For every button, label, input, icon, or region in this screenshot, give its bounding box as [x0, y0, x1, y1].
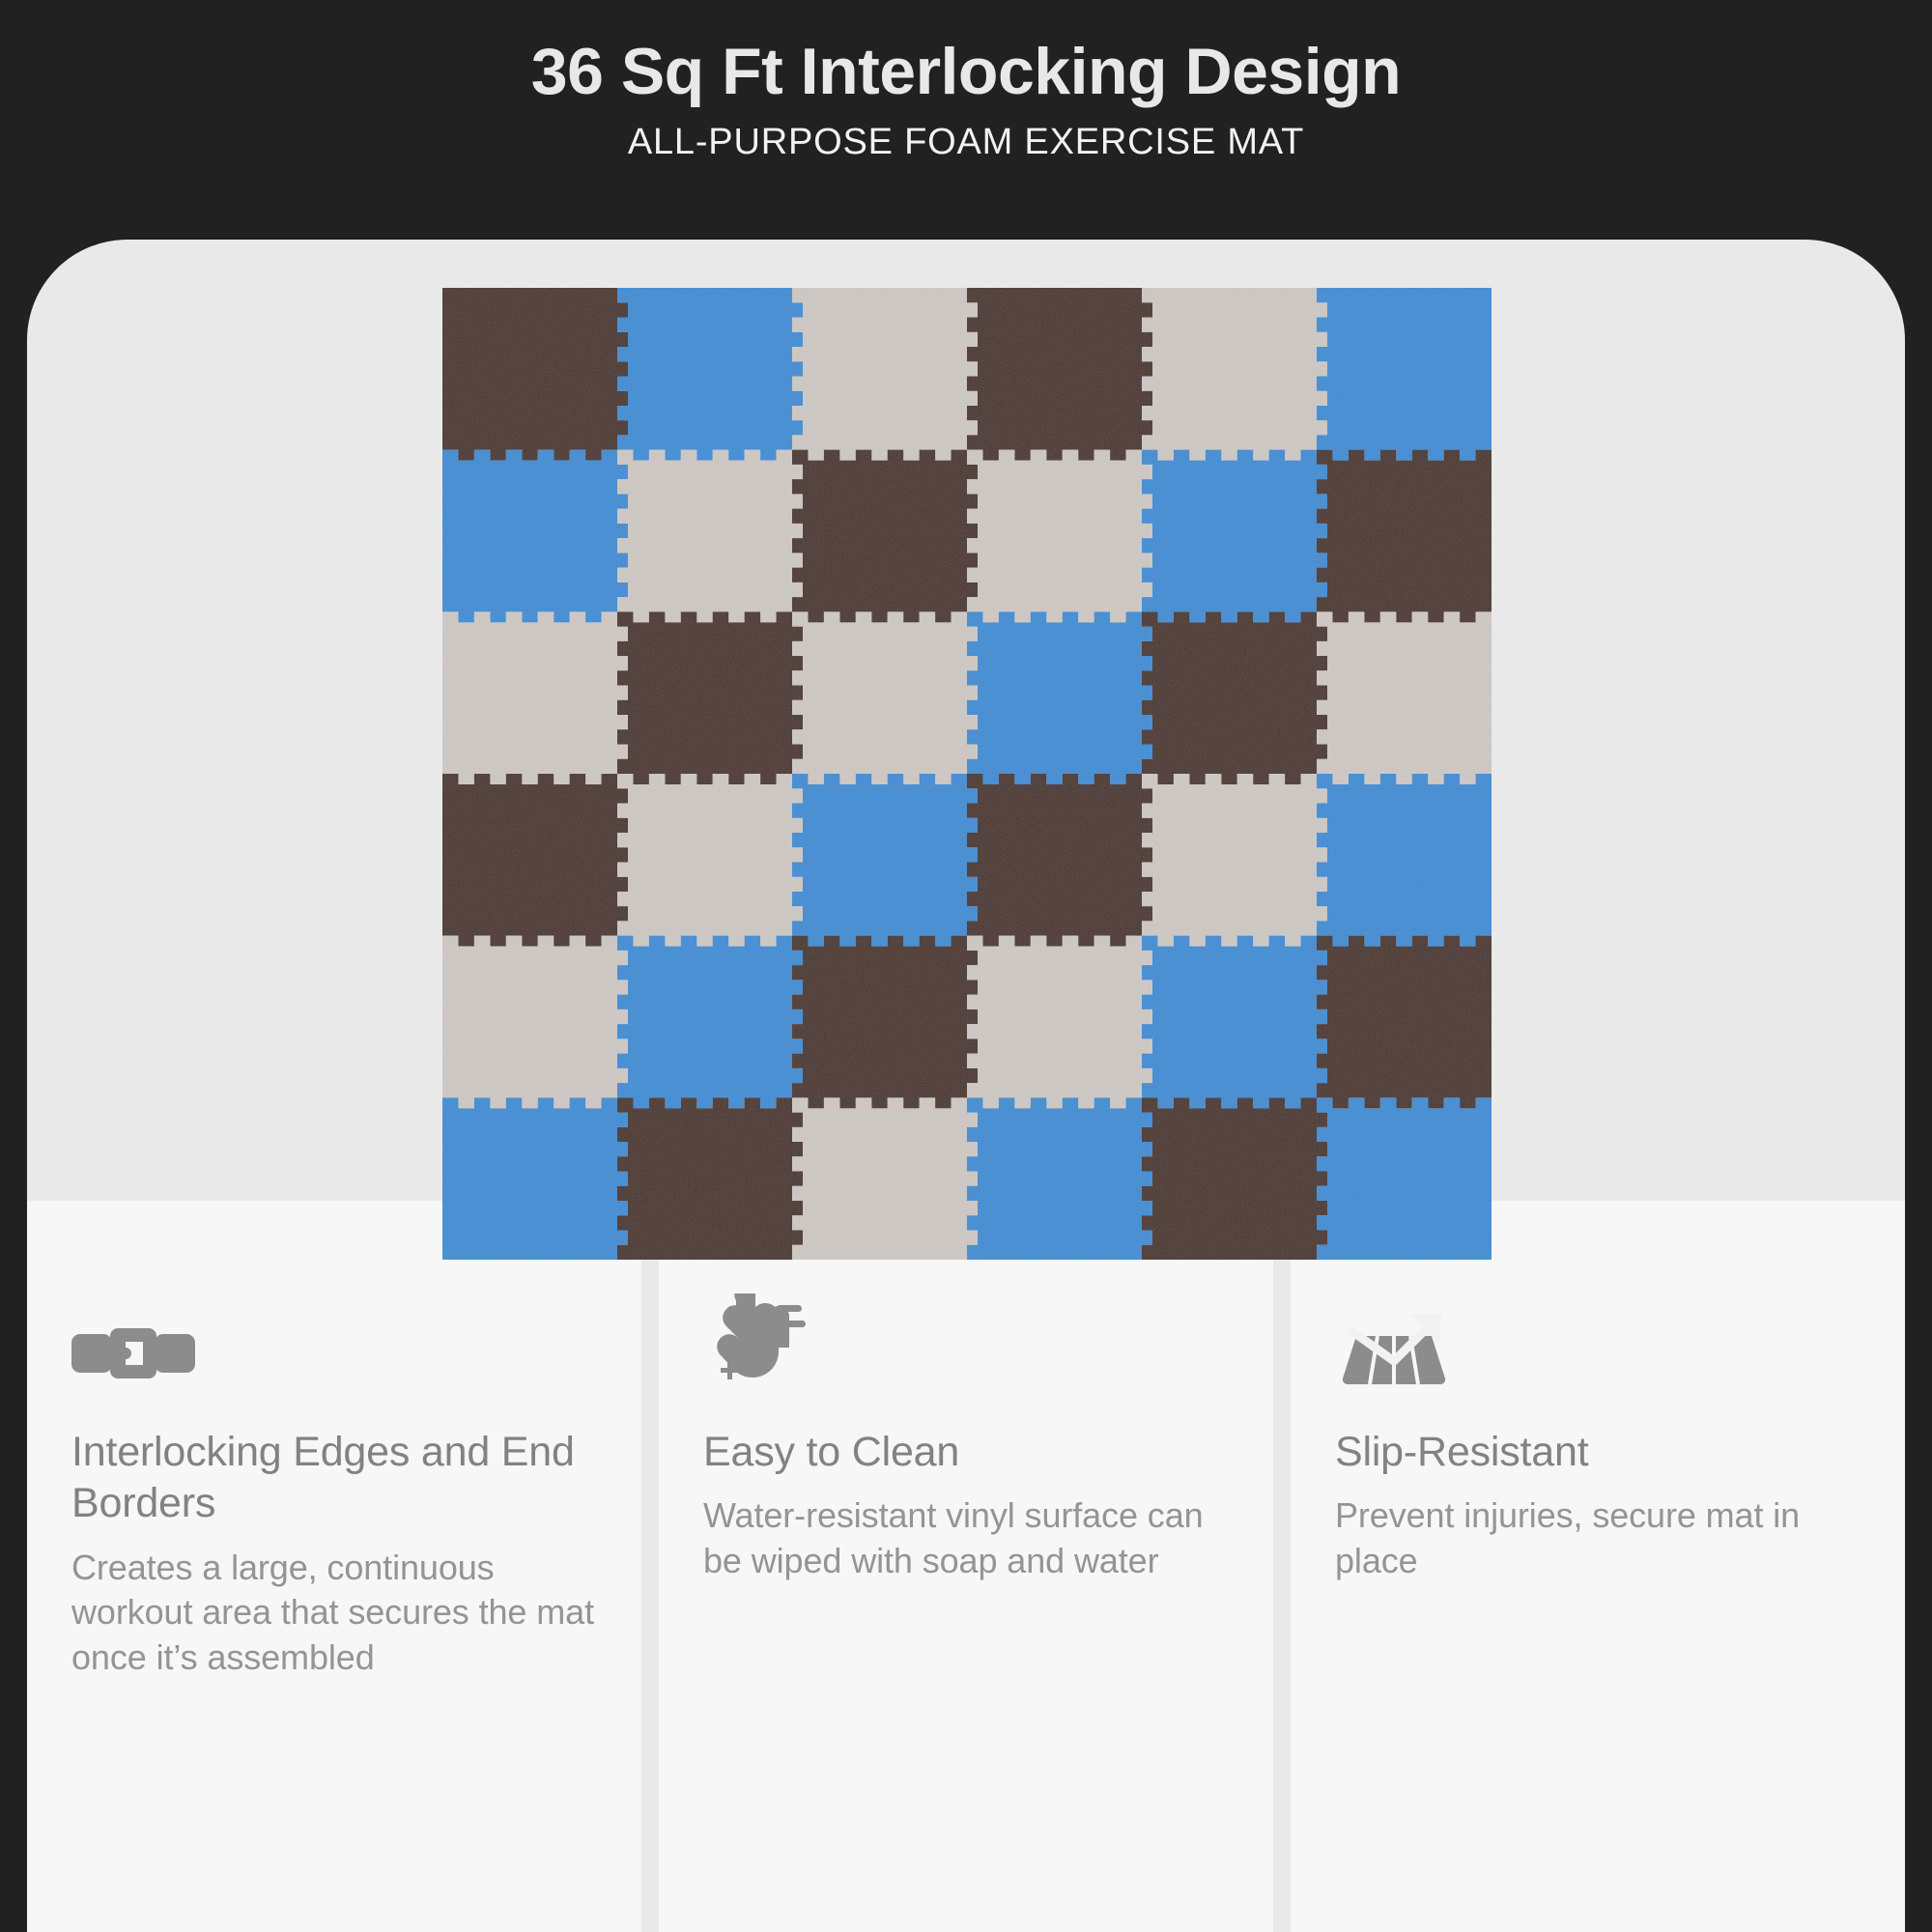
mat-tile: [792, 450, 978, 623]
mat-tile: [442, 288, 628, 461]
mat-tile: [792, 611, 978, 784]
mat-tile: [617, 1097, 803, 1260]
page-subtitle: ALL-PURPOSE FOAM EXERCISE MAT: [628, 122, 1304, 163]
mat-tile: [967, 288, 1152, 461]
mat-tile: [1142, 611, 1327, 784]
feature-card-list: Interlocking Edges and End Borders Creat…: [27, 1201, 1905, 1932]
mat-tile: [442, 774, 628, 947]
mat-tile: [617, 288, 803, 461]
mat-tile: [1317, 936, 1492, 1109]
feature-card-easy-to-clean: Easy to Clean Water-resistant vinyl surf…: [659, 1201, 1273, 1932]
mat-tile: [1142, 1097, 1327, 1260]
product-image-foam-mat: [442, 288, 1492, 1260]
feature-card-title: Slip-Resistant: [1335, 1427, 1861, 1478]
mat-tile: [617, 936, 803, 1109]
mat-tile: [1142, 936, 1327, 1109]
mat-tile: [442, 450, 628, 623]
mat-tile: [792, 288, 978, 461]
mat-tile: [1142, 288, 1327, 461]
mat-tile: [1317, 774, 1492, 947]
mat-tile: [967, 1097, 1152, 1260]
mat-tile: [967, 936, 1152, 1109]
feature-card-description: Creates a large, continuous workout area…: [71, 1546, 597, 1681]
interlocking-puzzle-icon: [71, 1297, 597, 1386]
feature-card-title: Interlocking Edges and End Borders: [71, 1427, 597, 1530]
mat-tile: [792, 774, 978, 947]
feature-card-interlocking: Interlocking Edges and End Borders Creat…: [27, 1201, 641, 1932]
mat-tile: [1317, 288, 1492, 461]
feature-card-slip-resistant: Slip-Resistant Prevent injuries, secure …: [1291, 1201, 1905, 1932]
mat-tile: [792, 1097, 978, 1260]
mat-tile: [967, 450, 1152, 623]
header-banner: 36 Sq Ft Interlocking Design ALL-PURPOSE…: [0, 0, 1932, 253]
mat-tile: [792, 936, 978, 1109]
slip-resistant-mat-icon: [1335, 1297, 1861, 1386]
feature-card-description: Water-resistant vinyl surface can be wip…: [703, 1493, 1229, 1584]
mat-tile: [442, 1097, 628, 1260]
mat-tile: [1317, 611, 1492, 784]
mat-tile: [1142, 450, 1327, 623]
mat-tile: [442, 611, 628, 784]
wiping-hand-sparkle-icon: [703, 1297, 1229, 1386]
mat-tile: [967, 611, 1152, 784]
foam-mat-tile-grid: [442, 288, 1492, 1260]
mat-tile: [617, 774, 803, 947]
page-title: 36 Sq Ft Interlocking Design: [531, 35, 1401, 108]
feature-card-title: Easy to Clean: [703, 1427, 1229, 1478]
mat-tile: [1142, 774, 1327, 947]
mat-tile: [1317, 1097, 1492, 1260]
mat-tile: [617, 611, 803, 784]
mat-tile: [1317, 450, 1492, 623]
mat-tile: [617, 450, 803, 623]
mat-tile: [442, 936, 628, 1109]
mat-tile: [967, 774, 1152, 947]
feature-card-description: Prevent injuries, secure mat in place: [1335, 1493, 1861, 1584]
